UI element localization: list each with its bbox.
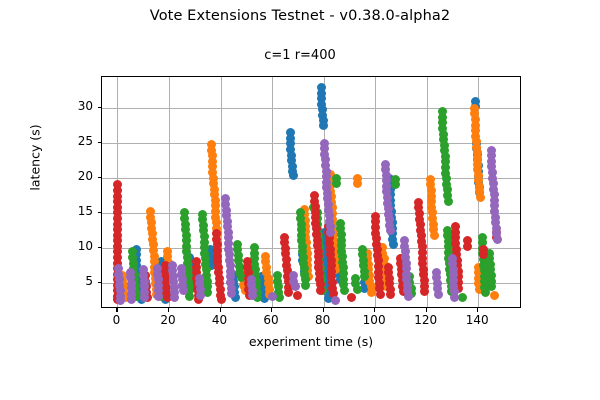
y-tick-mark <box>98 247 102 248</box>
x-tick-mark <box>426 308 427 312</box>
scatter-point <box>347 293 356 302</box>
x-tick-label: 140 <box>447 313 507 327</box>
matplotlib-figure: Vote Extensions Testnet - v0.38.0-alpha2… <box>0 0 600 400</box>
scatter-point <box>463 242 472 251</box>
y-tick-label: 15 <box>55 204 93 218</box>
scatter-point <box>458 293 467 302</box>
x-tick-mark <box>168 308 169 312</box>
scatter-point <box>268 292 277 301</box>
scatter-point <box>316 286 325 295</box>
scatter-point <box>196 291 205 300</box>
y-tick-label: 5 <box>55 274 93 288</box>
scatter-point <box>116 296 125 305</box>
y-tick-label: 30 <box>55 99 93 113</box>
scatter-point <box>493 235 502 244</box>
scatter-point <box>275 293 284 302</box>
y-tick-label: 25 <box>55 134 93 148</box>
x-tick-mark <box>271 308 272 312</box>
scatter-point <box>444 197 453 206</box>
y-tick-mark <box>98 212 102 213</box>
scatter-point <box>450 293 459 302</box>
scatter-point <box>420 287 429 296</box>
scatter-point <box>386 290 395 299</box>
x-axis-label: experiment time (s) <box>101 334 521 349</box>
scatter-point <box>434 290 443 299</box>
y-tick-mark <box>98 177 102 178</box>
scatter-point <box>487 282 496 291</box>
x-tick-mark <box>220 308 221 312</box>
scatter-point <box>293 291 302 300</box>
y-tick-mark <box>98 282 102 283</box>
scatter-point <box>391 180 400 189</box>
scatter-point <box>331 296 340 305</box>
scatter-point <box>404 292 413 301</box>
y-tick-mark <box>98 107 102 108</box>
scatter-point <box>353 179 362 188</box>
scatter-point <box>332 179 341 188</box>
scatter-point <box>353 285 362 294</box>
x-tick-mark <box>323 308 324 312</box>
y-axis-label: latency (s) <box>28 78 43 238</box>
scatter-point <box>248 291 257 300</box>
scatter-point <box>289 171 298 180</box>
gridline-horizontal <box>102 178 520 179</box>
scatter-point <box>476 193 485 202</box>
scatter-point <box>376 290 385 299</box>
scatter-point <box>326 228 335 237</box>
scatter-point <box>170 293 179 302</box>
x-tick-mark <box>116 308 117 312</box>
gridline-horizontal <box>102 108 520 109</box>
x-tick-mark <box>374 308 375 312</box>
scatter-point <box>291 282 300 291</box>
scatter-point <box>140 293 149 302</box>
y-tick-mark <box>98 142 102 143</box>
x-tick-mark <box>477 308 478 312</box>
scatter-point <box>217 295 226 304</box>
plot-area <box>101 76 521 308</box>
y-tick-label: 20 <box>55 169 93 183</box>
y-tick-label: 10 <box>55 239 93 253</box>
axes-title: c=1 r=400 <box>0 48 600 63</box>
scatter-point <box>319 121 328 130</box>
scatter-point <box>301 281 310 290</box>
scatter-point <box>127 295 136 304</box>
scatter-point <box>479 250 488 259</box>
figure-suptitle: Vote Extensions Testnet - v0.38.0-alpha2 <box>0 8 600 24</box>
scatter-point <box>490 291 499 300</box>
gridline-horizontal <box>102 143 520 144</box>
scatter-point <box>389 240 398 249</box>
scatter-point <box>430 231 439 240</box>
